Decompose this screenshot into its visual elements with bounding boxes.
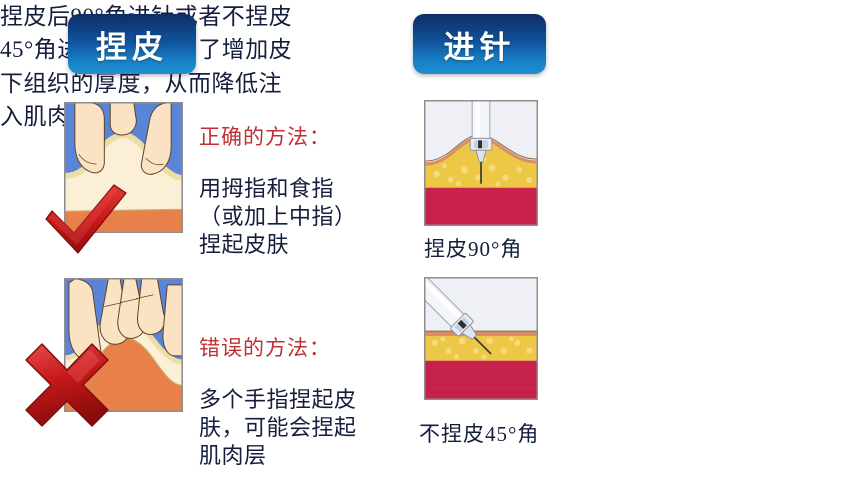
infographic-canvas: 捏皮 进针 [0,0,862,492]
red-check-mark [40,183,132,255]
red-cross-mark [22,340,112,428]
needle-45-degree-illustration [424,277,538,400]
needle-90-degree-caption: 捏皮90°角 [424,233,522,263]
correct-method-heading: 正确的方法： [199,124,394,151]
header-badge-insert: 进针 [413,14,546,74]
wrong-method-heading: 错误的方法： [199,335,394,362]
needle-45-degree-caption: 不捏皮45°角 [419,418,539,448]
header-badge-insert-label: 进针 [444,22,516,67]
check-mark-icon [40,183,132,255]
needle-90-degree-illustration [424,100,538,226]
correct-method-body: 用拇指和食指 （或加上中指） 捏起皮肤 [199,175,394,259]
cross-mark-icon [22,340,112,428]
wrong-method-text: 错误的方法： 多个手指捏起皮 肤，可能会捏起 肌肉层 [199,315,394,491]
header-badge-pinch-label: 捏皮 [96,22,168,67]
needle-90-degree-graphic [425,101,537,225]
header-badge-pinch: 捏皮 [68,14,196,74]
wrong-method-body: 多个手指捏起皮 肤，可能会捏起 肌肉层 [199,386,394,470]
correct-method-text: 正确的方法： 用拇指和食指 （或加上中指） 捏起皮肤 [199,104,394,280]
needle-45-degree-graphic [425,278,537,399]
